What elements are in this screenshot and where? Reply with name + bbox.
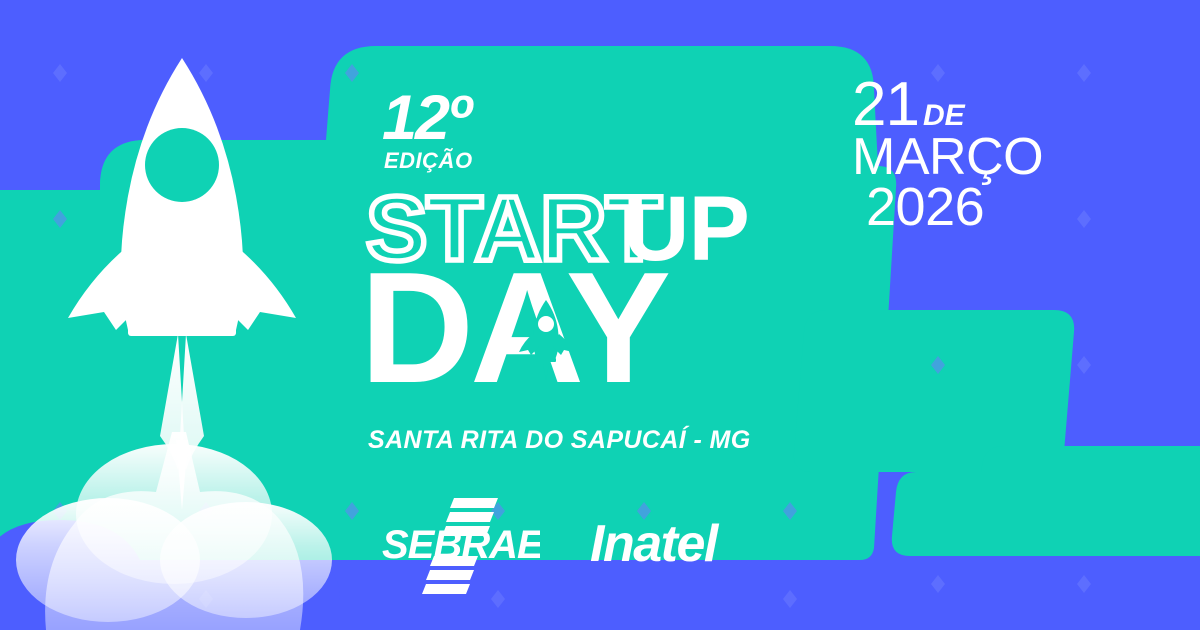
edition-block: 12º EDIÇÃO — [382, 90, 473, 172]
event-date: 21DE MARÇO 2026 — [852, 78, 1052, 232]
teal-shape-right-bar — [892, 472, 1200, 556]
rocket-base — [128, 322, 236, 336]
startup-day-wordmark: START UP DAY — [330, 182, 850, 432]
sebrae-logo[interactable]: SEBRAE — [380, 496, 540, 594]
date-day-row: 21DE — [852, 78, 1052, 133]
main-lockup: 12º EDIÇÃO START UP DAY SANTA RITA DO SA… — [330, 74, 850, 474]
location-subtitle: SANTA RITA DO SAPUCAÍ - MG — [368, 426, 751, 455]
edition-number: 12º — [382, 90, 473, 148]
inatel-logo[interactable]: Inatel — [590, 514, 717, 574]
sponsor-panel: SEBRAE Inatel — [300, 476, 860, 630]
date-year: 2026 — [866, 184, 1052, 232]
rocket-window — [145, 128, 219, 202]
date-month: MARÇO — [852, 135, 1052, 181]
event-banner: 12º EDIÇÃO START UP DAY SANTA RITA DO SA… — [0, 0, 1200, 630]
edition-label: EDIÇÃO — [384, 150, 473, 172]
sebrae-wordmark: SEBRAE — [382, 523, 540, 567]
exhaust-cloud — [16, 432, 332, 630]
wordmark-day: DAY — [360, 240, 669, 416]
